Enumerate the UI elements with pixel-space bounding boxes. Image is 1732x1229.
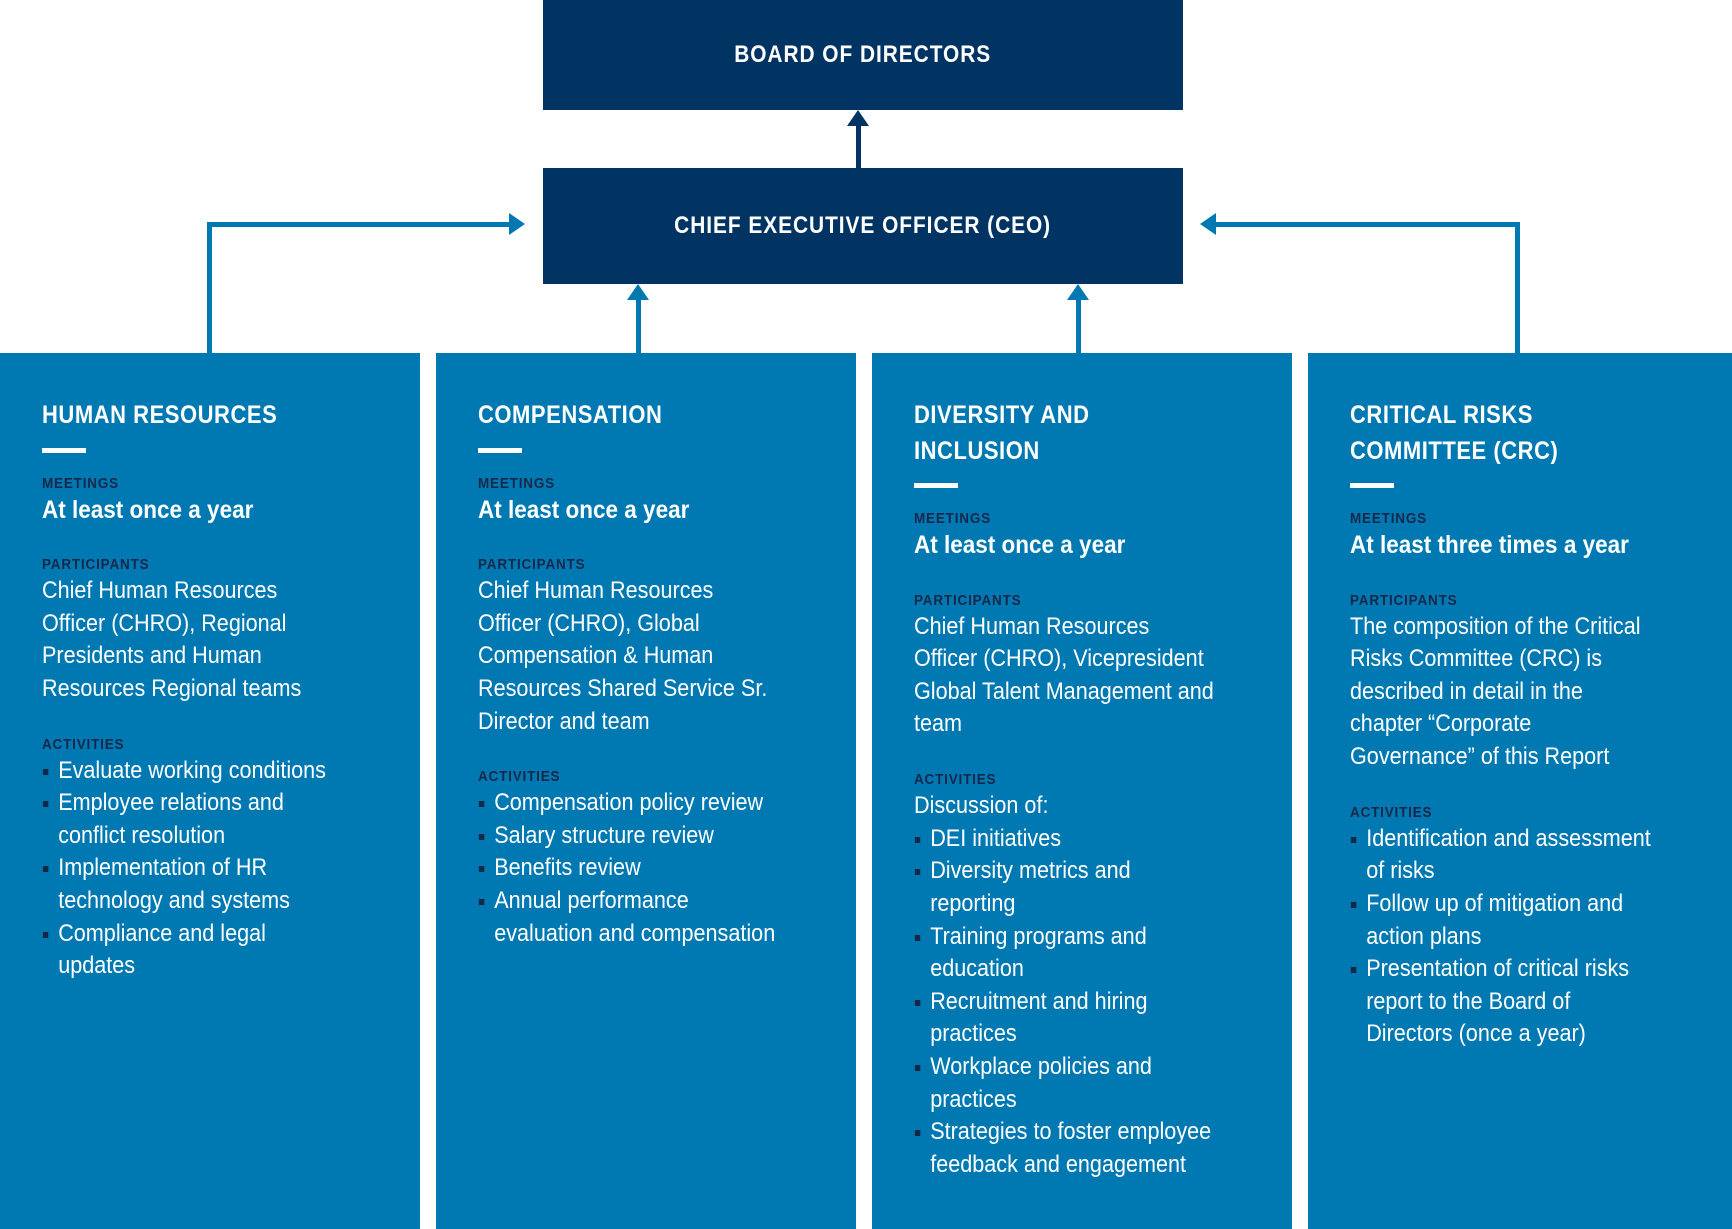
column-title: DIVERSITY AND INCLUSION bbox=[914, 398, 1211, 469]
diversity-to-ceo-arrowhead bbox=[1067, 284, 1089, 300]
participants-value: The composition of the Critical Risks Co… bbox=[1350, 611, 1658, 774]
board-of-directors-label: BOARD OF DIRECTORS bbox=[735, 41, 992, 69]
compensation-to-ceo-arrowhead bbox=[627, 284, 649, 300]
ceo-to-board-arrowhead bbox=[847, 110, 869, 126]
meetings-label: MEETINGS bbox=[42, 475, 346, 492]
compensation-to-ceo-line bbox=[636, 300, 641, 353]
activities-list: DEI initiativesDiversity metrics and rep… bbox=[914, 823, 1218, 1182]
title-rule bbox=[1350, 483, 1394, 488]
board-of-directors-box: BOARD OF DIRECTORS bbox=[543, 0, 1183, 110]
column-title: HUMAN RESOURCES bbox=[42, 398, 339, 434]
meetings-label: MEETINGS bbox=[914, 510, 1218, 527]
activities-intro: Discussion of: bbox=[914, 790, 1218, 823]
hr-to-ceo-vertical-line bbox=[207, 222, 212, 353]
chief-executive-officer-label: CHIEF EXECUTIVE OFFICER (CEO) bbox=[675, 212, 1052, 240]
column-title: CRITICAL RISKS COMMITTEE (CRC) bbox=[1350, 398, 1651, 469]
title-rule bbox=[914, 483, 958, 488]
committee-column-critical-risks: CRITICAL RISKS COMMITTEE (CRC) MEETINGS … bbox=[1308, 353, 1732, 1229]
activity-item: Recruitment and hiring practices bbox=[914, 986, 1218, 1051]
activity-item: Annual performance evaluation and compen… bbox=[478, 885, 782, 950]
crc-to-ceo-vertical-line bbox=[1515, 222, 1520, 353]
participants-label: PARTICIPANTS bbox=[42, 556, 346, 573]
activity-item: Benefits review bbox=[478, 852, 782, 885]
title-rule bbox=[478, 448, 522, 453]
participants-label: PARTICIPANTS bbox=[478, 556, 782, 573]
meetings-value: At least once a year bbox=[42, 494, 346, 527]
ceo-to-board-line bbox=[856, 126, 861, 168]
meetings-value: At least once a year bbox=[478, 494, 782, 527]
hr-to-ceo-arrowhead bbox=[509, 213, 525, 235]
diversity-to-ceo-line bbox=[1076, 300, 1081, 353]
governance-structure-diagram: BOARD OF DIRECTORS CHIEF EXECUTIVE OFFIC… bbox=[0, 0, 1732, 1229]
participants-value: Chief Human Resources Officer (CHRO), Vi… bbox=[914, 611, 1218, 742]
activity-item: Compliance and legal updates bbox=[42, 918, 346, 983]
crc-to-ceo-horizontal-line bbox=[1216, 222, 1520, 227]
activity-item: Follow up of mitigation and action plans bbox=[1350, 888, 1658, 953]
activity-item: Workplace policies and practices bbox=[914, 1051, 1218, 1116]
activity-item: Training programs and education bbox=[914, 921, 1218, 986]
activity-item: Diversity metrics and reporting bbox=[914, 855, 1218, 920]
activity-item: Compensation policy review bbox=[478, 787, 782, 820]
activity-item: Presentation of critical risks report to… bbox=[1350, 953, 1658, 1051]
activity-item: Evaluate working conditions bbox=[42, 755, 346, 788]
meetings-label: MEETINGS bbox=[478, 475, 782, 492]
activities-label: ACTIVITIES bbox=[1350, 804, 1658, 821]
crc-to-ceo-arrowhead bbox=[1200, 213, 1216, 235]
activity-item: Salary structure review bbox=[478, 820, 782, 853]
activities-list: Evaluate working conditionsEmployee rela… bbox=[42, 755, 346, 983]
participants-label: PARTICIPANTS bbox=[914, 592, 1218, 609]
activity-item: Implementation of HR technology and syst… bbox=[42, 852, 346, 917]
meetings-value: At least once a year bbox=[914, 529, 1218, 562]
title-rule bbox=[42, 448, 86, 453]
meetings-value: At least three times a year bbox=[1350, 529, 1658, 562]
activities-label: ACTIVITIES bbox=[478, 768, 782, 785]
chief-executive-officer-box: CHIEF EXECUTIVE OFFICER (CEO) bbox=[543, 168, 1183, 284]
committee-column-diversity-and-inclusion: DIVERSITY AND INCLUSION MEETINGS At leas… bbox=[872, 353, 1292, 1229]
participants-label: PARTICIPANTS bbox=[1350, 592, 1658, 609]
activities-label: ACTIVITIES bbox=[42, 736, 346, 753]
participants-value: Chief Human Resources Officer (CHRO), Gl… bbox=[478, 575, 782, 738]
committee-column-compensation: COMPENSATION MEETINGS At least once a ye… bbox=[436, 353, 856, 1229]
activities-list: Compensation policy reviewSalary structu… bbox=[478, 787, 782, 950]
committee-column-human-resources: HUMAN RESOURCES MEETINGS At least once a… bbox=[0, 353, 420, 1229]
activities-list: Identification and assessment of risksFo… bbox=[1350, 823, 1658, 1051]
activity-item: DEI initiatives bbox=[914, 823, 1218, 856]
activities-label: ACTIVITIES bbox=[914, 771, 1218, 788]
participants-value: Chief Human Resources Officer (CHRO), Re… bbox=[42, 575, 346, 706]
column-title: COMPENSATION bbox=[478, 398, 775, 434]
meetings-label: MEETINGS bbox=[1350, 510, 1658, 527]
hr-to-ceo-horizontal-line bbox=[207, 222, 509, 227]
activity-item: Strategies to foster employee feedback a… bbox=[914, 1116, 1218, 1181]
committee-columns: HUMAN RESOURCES MEETINGS At least once a… bbox=[0, 353, 1732, 1229]
activity-item: Employee relations and conflict resoluti… bbox=[42, 787, 346, 852]
activity-item: Identification and assessment of risks bbox=[1350, 823, 1658, 888]
